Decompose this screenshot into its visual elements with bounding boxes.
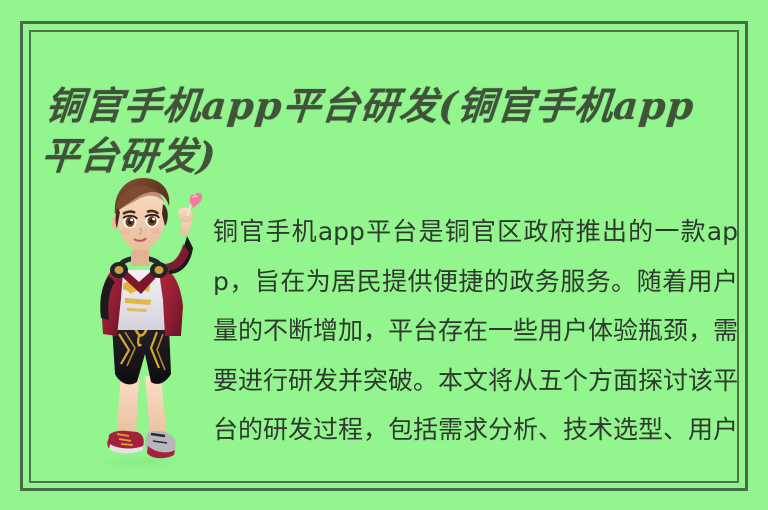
page-title: 铜官手机app平台研发(铜官手机app平台研发) xyxy=(39,81,728,181)
article-content: 铜官手机app平台是铜官区政府推出的一款app，旨在为居民提供便捷的政务服务。随… xyxy=(40,178,738,478)
character-right-shoe xyxy=(145,431,176,458)
page-root: 铜官手机app平台研发(铜官手机app平台研发) xyxy=(0,0,768,510)
heart-lollipop-icon xyxy=(187,193,202,216)
article-body-text: 铜官手机app平台是铜官区政府推出的一款app，旨在为居民提供便捷的政务服务。随… xyxy=(213,207,738,455)
cartoon-boy-character-illustration xyxy=(65,178,215,473)
character-neck xyxy=(131,250,149,266)
character-left-shoe xyxy=(107,431,143,453)
character-right-hand xyxy=(178,207,193,222)
